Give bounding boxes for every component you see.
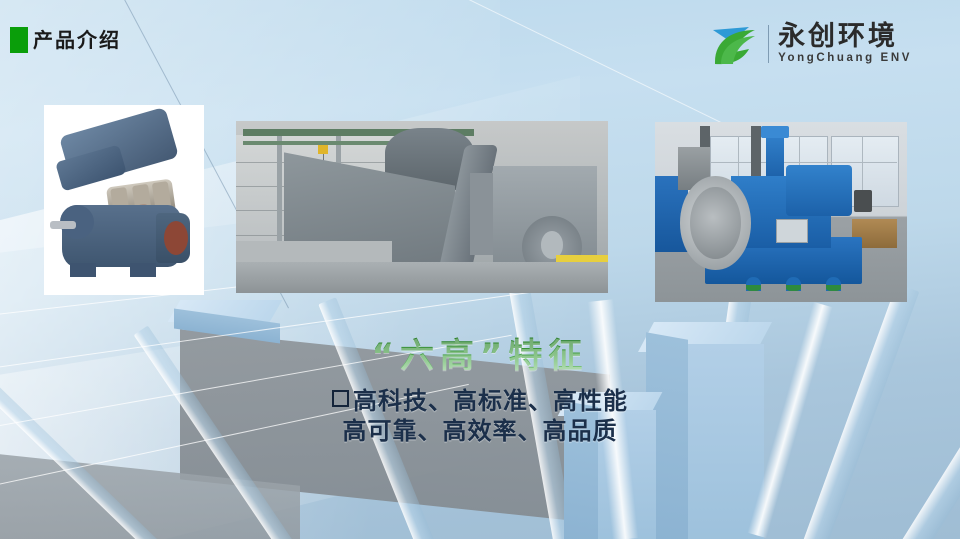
blower-casing-inner [690,187,740,259]
hanging-bag [854,190,872,212]
anchor-mount [786,277,801,291]
page-title: 产品介绍 [33,28,121,52]
logo-divider [768,25,769,63]
junction-box [776,219,808,243]
pump-photo-canvas [48,109,200,291]
bullet-line-2: 高可靠、高效率、高品质 [0,416,960,446]
green-square-marker-icon [10,27,28,53]
split-case-pump-photo [44,105,204,295]
blower-motor [786,165,852,215]
anchor-mount [826,277,841,291]
bullet-line-1-text: 高科技、高标准、高性能 [353,387,628,415]
pump-discharge-bore [164,221,188,255]
factory-hall-scene [236,121,608,293]
feature-bullets: 高科技、高标准、高性能 高可靠、高效率、高品质 [0,386,960,446]
hall-floor [236,262,608,293]
hollow-square-bullet-icon [332,390,349,407]
logo-company-en: YongChuang ENV [778,53,912,65]
workshop-scene [655,122,907,302]
pump-foot-right [130,263,156,277]
anchor-mount [746,277,761,291]
company-logo: 永创环境 YongChuang ENV [709,22,912,66]
blue-blower-photo [655,122,907,302]
yellow-hoist-icon [318,145,328,154]
logo-text-block: 永创环境 YongChuang ENV [778,23,912,65]
factory-machine-photo [236,121,608,293]
slide-canvas: 产品介绍 永创环境 YongChuang ENV [0,0,960,539]
pump-foot-left [70,263,96,277]
bullet-line-1: 高科技、高标准、高性能 [0,386,960,416]
logo-company-cn: 永创环境 [778,23,912,50]
bullet-line-2-text: 高可靠、高效率、高品质 [343,417,618,445]
yongchuang-leaf-logo-icon [709,22,759,66]
pump-shaft [50,221,76,229]
feature-title: “六高”特征 [0,328,960,377]
blower-stack-cap [761,126,789,139]
